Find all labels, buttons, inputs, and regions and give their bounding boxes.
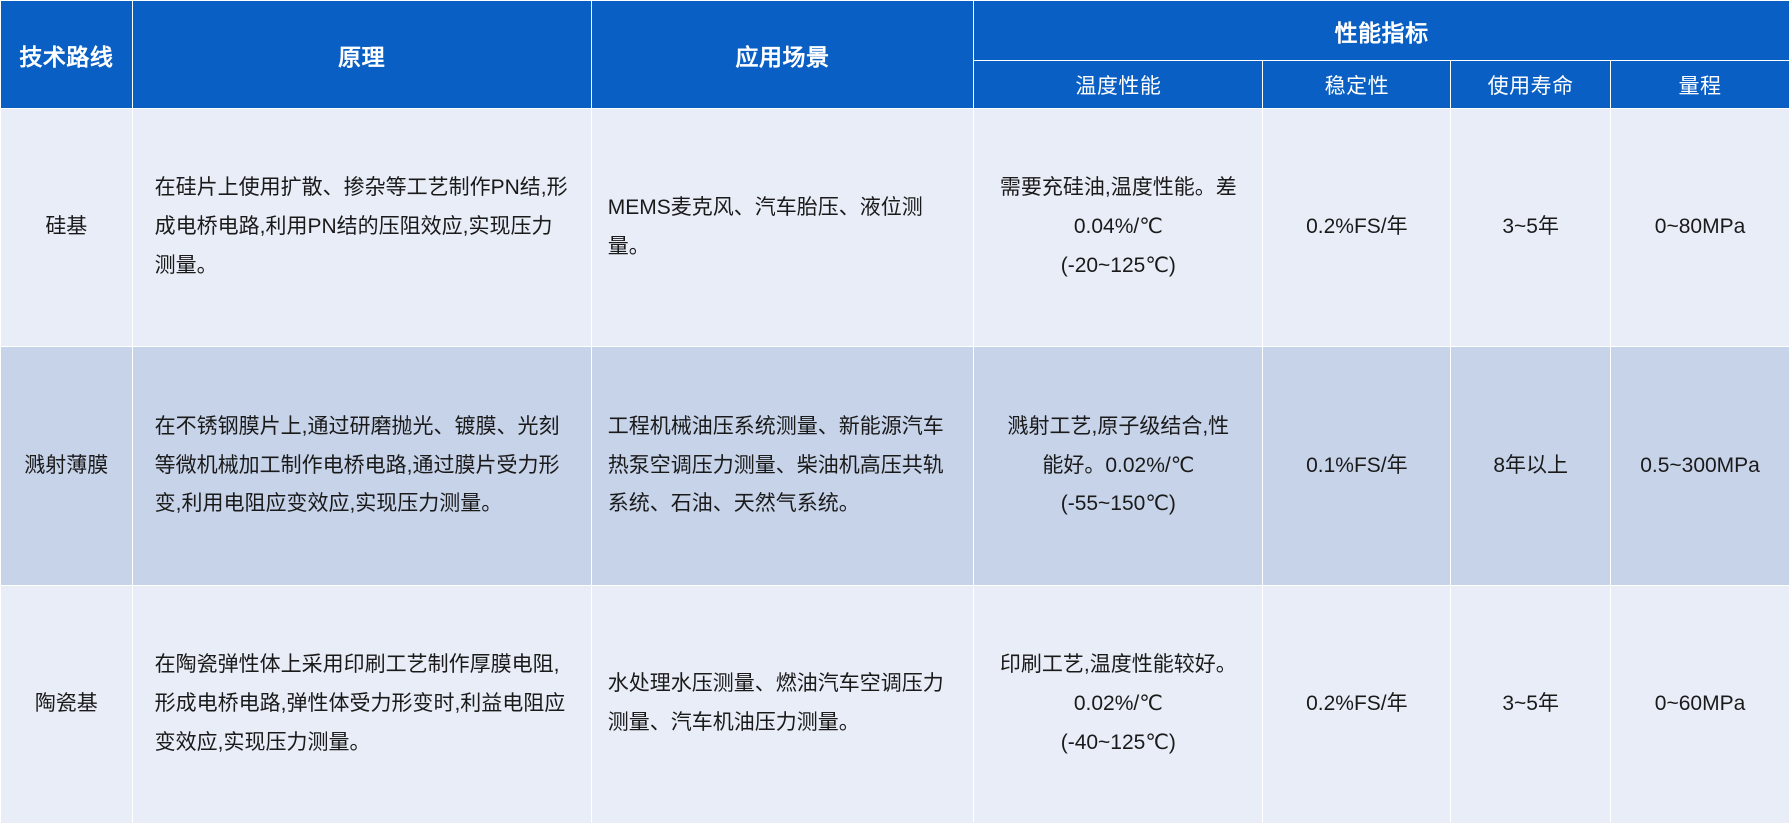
table-row: 溅射薄膜 在不锈钢膜片上,通过研磨抛光、镀膜、光刻等微机械加工制作电桥电路,通过… xyxy=(1,347,1790,585)
temperature-line-2: 0.02%/℃ xyxy=(988,685,1248,724)
cell-stability: 0.2%FS/年 xyxy=(1263,585,1451,823)
cell-range: 0~80MPa xyxy=(1611,109,1790,347)
technology-comparison-table: 技术路线 原理 应用场景 性能指标 温度性能 稳定性 使用寿命 量程 硅基 在硅… xyxy=(0,0,1790,824)
cell-stability: 0.1%FS/年 xyxy=(1263,347,1451,585)
temperature-line-3: (-20~125℃) xyxy=(988,247,1248,286)
cell-principle: 在硅片上使用扩散、掺杂等工艺制作PN结,形成电桥电路,利用PN结的压阻效应,实现… xyxy=(132,109,591,347)
cell-application: 水处理水压测量、燃油汽车空调压力测量、汽车机油压力测量。 xyxy=(591,585,974,823)
cell-temperature: 印刷工艺,温度性能较好。 0.02%/℃ (-40~125℃) xyxy=(974,585,1263,823)
temperature-line-3: (-40~125℃) xyxy=(988,724,1248,763)
temperature-line-2: 0.04%/℃ xyxy=(988,208,1248,247)
cell-application: MEMS麦克风、汽车胎压、液位测量。 xyxy=(591,109,974,347)
cell-route: 溅射薄膜 xyxy=(1,347,133,585)
cell-range: 0.5~300MPa xyxy=(1611,347,1790,585)
header-cell-principle: 原理 xyxy=(132,1,591,109)
header-cell-range: 量程 xyxy=(1611,61,1790,109)
header-cell-performance-group: 性能指标 xyxy=(974,1,1790,61)
cell-range: 0~60MPa xyxy=(1611,585,1790,823)
cell-life: 3~5年 xyxy=(1451,585,1611,823)
temperature-line-2: 能好。0.02%/℃ xyxy=(988,447,1248,486)
cell-stability: 0.2%FS/年 xyxy=(1263,109,1451,347)
cell-principle: 在陶瓷弹性体上采用印刷工艺制作厚膜电阻,形成电桥电路,弹性体受力形变时,利益电阻… xyxy=(132,585,591,823)
cell-temperature: 需要充硅油,温度性能。差 0.04%/℃ (-20~125℃) xyxy=(974,109,1263,347)
header-cell-life: 使用寿命 xyxy=(1451,61,1611,109)
temperature-line-1: 溅射工艺,原子级结合,性 xyxy=(988,408,1248,447)
temperature-line-1: 印刷工艺,温度性能较好。 xyxy=(988,646,1248,685)
cell-application: 工程机械油压系统测量、新能源汽车热泵空调压力测量、柴油机高压共轨系统、石油、天然… xyxy=(591,347,974,585)
table-header: 技术路线 原理 应用场景 性能指标 温度性能 稳定性 使用寿命 量程 xyxy=(1,1,1790,109)
header-row-primary: 技术路线 原理 应用场景 性能指标 xyxy=(1,1,1790,61)
temperature-line-3: (-55~150℃) xyxy=(988,485,1248,524)
header-cell-stability: 稳定性 xyxy=(1263,61,1451,109)
cell-temperature: 溅射工艺,原子级结合,性 能好。0.02%/℃ (-55~150℃) xyxy=(974,347,1263,585)
comparison-table-container: 技术路线 原理 应用场景 性能指标 温度性能 稳定性 使用寿命 量程 硅基 在硅… xyxy=(0,0,1790,824)
cell-life: 3~5年 xyxy=(1451,109,1611,347)
header-cell-application: 应用场景 xyxy=(591,1,974,109)
header-cell-temperature: 温度性能 xyxy=(974,61,1263,109)
table-row: 陶瓷基 在陶瓷弹性体上采用印刷工艺制作厚膜电阻,形成电桥电路,弹性体受力形变时,… xyxy=(1,585,1790,823)
header-cell-route: 技术路线 xyxy=(1,1,133,109)
cell-principle: 在不锈钢膜片上,通过研磨抛光、镀膜、光刻等微机械加工制作电桥电路,通过膜片受力形… xyxy=(132,347,591,585)
cell-route: 陶瓷基 xyxy=(1,585,133,823)
cell-life: 8年以上 xyxy=(1451,347,1611,585)
cell-route: 硅基 xyxy=(1,109,133,347)
temperature-line-1: 需要充硅油,温度性能。差 xyxy=(988,169,1248,208)
table-body: 硅基 在硅片上使用扩散、掺杂等工艺制作PN结,形成电桥电路,利用PN结的压阻效应… xyxy=(1,109,1790,824)
table-row: 硅基 在硅片上使用扩散、掺杂等工艺制作PN结,形成电桥电路,利用PN结的压阻效应… xyxy=(1,109,1790,347)
